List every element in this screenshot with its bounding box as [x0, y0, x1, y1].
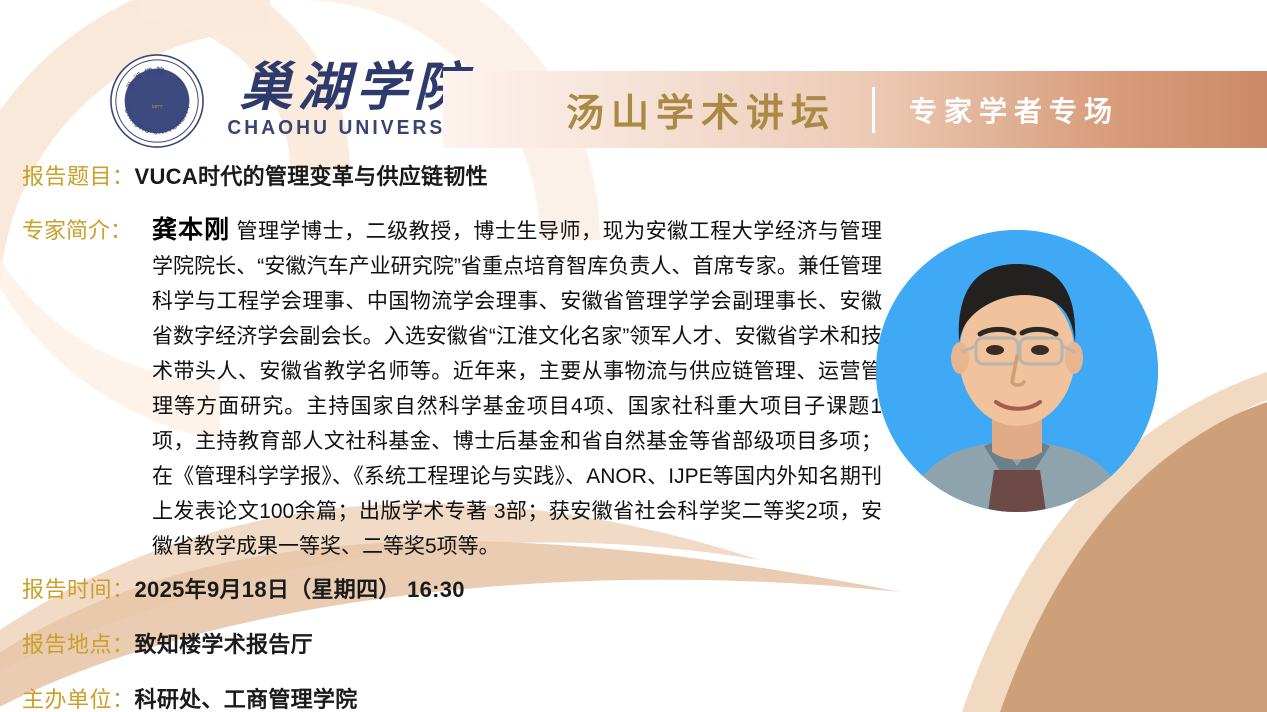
- report-time-label: 报告时间：: [22, 572, 135, 604]
- report-organizer-value: 科研处、工商管理学院: [135, 682, 358, 712]
- report-place-label: 报告地点：: [22, 627, 135, 659]
- university-logo-block: 1977 巢 湖 学 院 CHAOHU UNIVERSITY 巢湖学院 CHAO…: [108, 52, 490, 150]
- report-time-value: 2025年9月18日（星期四） 16:30: [135, 572, 465, 604]
- banner-title: 汤山学术讲坛: [566, 82, 836, 137]
- university-name-cn: 巢湖学院: [240, 62, 472, 117]
- report-place-row: 报告地点： 致知楼学术报告厅: [22, 627, 313, 659]
- lecture-series-banner: 汤山学术讲坛 专家学者专场: [443, 71, 1267, 148]
- report-title-value: VUCA时代的管理变革与供应链韧性: [135, 159, 488, 191]
- speaker-portrait: [876, 230, 1158, 512]
- speaker-bio-label: 专家简介：: [22, 213, 132, 245]
- speaker-name: 龚本刚: [152, 216, 230, 244]
- university-seal-icon: 1977 巢 湖 学 院 CHAOHU UNIVERSITY: [108, 52, 206, 150]
- banner-separator: [872, 87, 875, 133]
- report-title-label: 报告题目：: [22, 159, 135, 191]
- poster-header: 1977 巢 湖 学 院 CHAOHU UNIVERSITY 巢湖学院 CHAO…: [0, 0, 1267, 155]
- speaker-bio-row: 专家简介： 龚本刚 管理学博士，二级教授，博士生导师，现为安徽工程大学经济与管理…: [22, 213, 882, 564]
- banner-subtitle: 专家学者专场: [909, 90, 1119, 130]
- report-organizer-row: 主办单位： 科研处、工商管理学院: [22, 682, 358, 712]
- report-title-row: 报告题目： VUCA时代的管理变革与供应链韧性: [22, 159, 488, 191]
- report-place-value: 致知楼学术报告厅: [135, 627, 313, 659]
- speaker-bio-body: 管理学博士，二级教授，博士生导师，现为安徽工程大学经济与管理学院院长、“安徽汽车…: [152, 220, 882, 558]
- report-organizer-label: 主办单位：: [22, 682, 135, 712]
- poster-canvas: 1977 巢 湖 学 院 CHAOHU UNIVERSITY 巢湖学院 CHAO…: [0, 0, 1267, 712]
- speaker-bio-text: 龚本刚 管理学博士，二级教授，博士生导师，现为安徽工程大学经济与管理学院院长、“…: [152, 213, 882, 564]
- report-time-row: 报告时间： 2025年9月18日（星期四） 16:30: [22, 572, 465, 604]
- svg-text:1977: 1977: [152, 104, 163, 110]
